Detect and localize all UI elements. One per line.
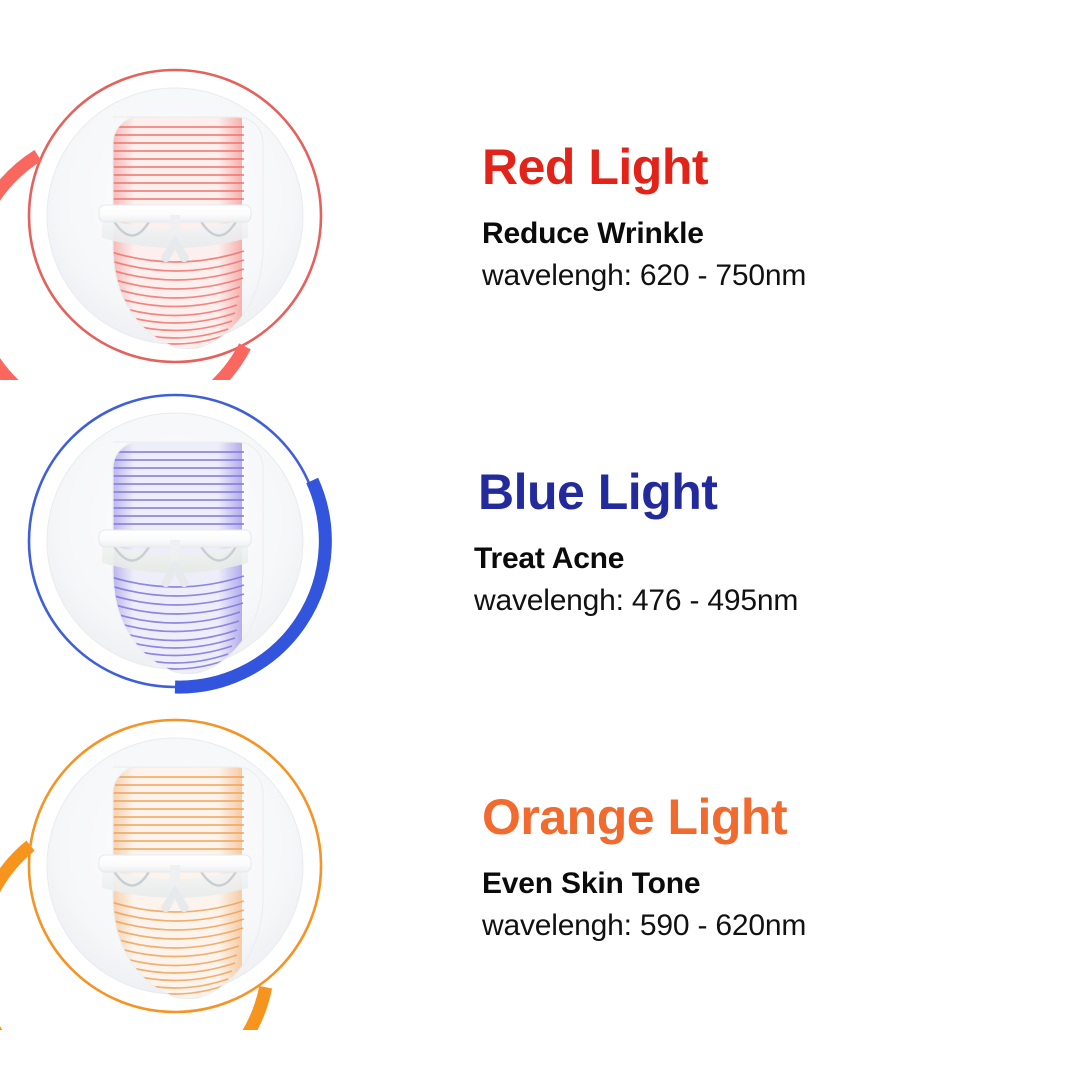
mask-graphic-red bbox=[0, 55, 470, 380]
mask-figure-orange bbox=[0, 705, 470, 1030]
mode-row-blue: Blue Light Treat Acne wavelengh: 476 - 4… bbox=[0, 380, 1080, 705]
mask-graphic-orange bbox=[0, 705, 470, 1030]
mode-text-orange: Orange Light Even Skin Tone wavelengh: 5… bbox=[470, 791, 1080, 944]
mode-text-red: Red Light Reduce Wrinkle wavelengh: 620 … bbox=[470, 141, 1080, 294]
mode-wavelength-blue: wavelengh: 476 - 495nm bbox=[474, 583, 1040, 619]
mode-wavelength-red: wavelengh: 620 - 750nm bbox=[482, 258, 1040, 294]
mode-row-orange: Orange Light Even Skin Tone wavelengh: 5… bbox=[0, 705, 1080, 1030]
mode-wavelength-orange: wavelengh: 590 - 620nm bbox=[482, 908, 1040, 944]
mask-disc-blue bbox=[47, 413, 303, 680]
mode-benefit-orange: Even Skin Tone bbox=[482, 866, 1040, 902]
mode-benefit-red: Reduce Wrinkle bbox=[482, 216, 1040, 252]
mask-disc-red bbox=[47, 88, 303, 355]
mode-title-orange: Orange Light bbox=[482, 791, 1040, 844]
mode-title-red: Red Light bbox=[482, 141, 1040, 194]
mode-text-blue: Blue Light Treat Acne wavelengh: 476 - 4… bbox=[470, 466, 1080, 619]
mode-title-blue: Blue Light bbox=[478, 466, 1040, 519]
mask-disc-orange bbox=[47, 738, 303, 1005]
mask-figure-red bbox=[0, 55, 470, 380]
mode-row-red: Red Light Reduce Wrinkle wavelengh: 620 … bbox=[0, 55, 1080, 380]
mask-graphic-blue bbox=[0, 380, 470, 705]
mode-benefit-blue: Treat Acne bbox=[474, 541, 1040, 577]
light-therapy-modes-page: Red Light Reduce Wrinkle wavelengh: 620 … bbox=[0, 0, 1080, 1080]
mask-figure-blue bbox=[0, 380, 470, 705]
